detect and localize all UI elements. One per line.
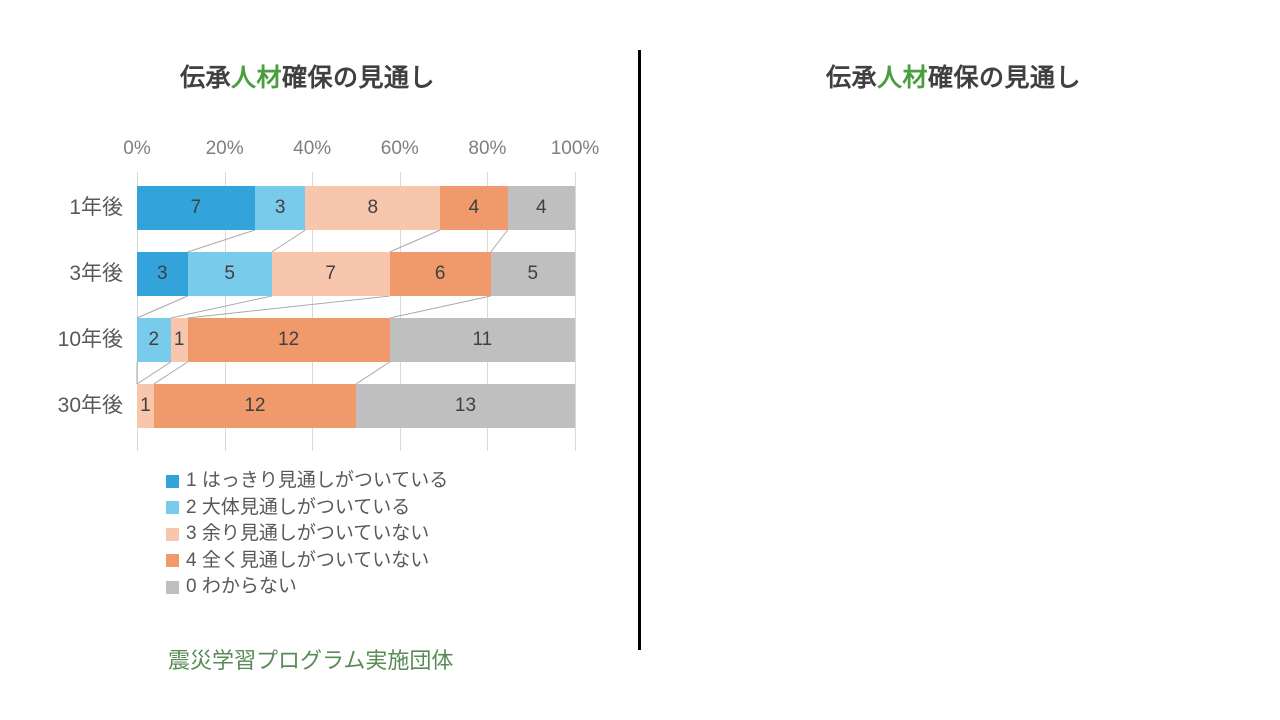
bar-segment-value: 12 (278, 329, 299, 351)
chart-panel-right: 伝承人材確保の見通し 0%20%40%60%80%100% 1年後6131233… (639, 0, 1280, 720)
x-axis-tick-label: 20% (206, 138, 244, 160)
bar-segment-value: 3 (157, 263, 168, 285)
bar-segment: 2 (137, 318, 171, 362)
bar-segment-value: 1 (174, 329, 185, 351)
bar-segment-value: 1 (140, 395, 151, 417)
legend-left: 1 はっきり見通しがついている2 大体見通しがついている3 余り見通しがついてい… (166, 468, 448, 601)
bar-row: 10年後211211 (137, 318, 575, 362)
x-axis-tick-label: 60% (381, 138, 419, 160)
x-axis-tick-label: 100% (551, 138, 600, 160)
legend-item[interactable]: 2 大体見通しがついている (166, 495, 448, 522)
bar-segment: 12 (154, 384, 356, 428)
legend-item[interactable]: 4 全く見通しがついていない (166, 548, 448, 575)
title-suffix-left: 確保の見通し (282, 64, 435, 92)
bar-segment: 7 (272, 252, 390, 296)
bar-segment: 5 (491, 252, 575, 296)
plot-area-left: 0%20%40%60%80%100% 1年後738443年後3576510年後2… (137, 180, 575, 445)
bar-segment-value: 8 (368, 197, 379, 219)
slide-root: 伝承人材確保の見通し 0%20%40%60%80%100% 1年後738443年… (0, 0, 1280, 720)
bar-segment: 4 (440, 186, 507, 230)
x-axis-tick-label: 40% (293, 138, 331, 160)
page-title-right: 伝承人材確保の見通し (633, 58, 1274, 94)
bar-segment-value: 2 (149, 329, 160, 351)
legend-item-label: 0 わからない (186, 574, 297, 601)
bar-segment-value: 6 (435, 263, 446, 285)
x-axis-tick-label: 80% (468, 138, 506, 160)
bar-segment: 7 (137, 186, 255, 230)
legend-swatch-icon (166, 554, 179, 567)
bar-segment: 1 (137, 384, 154, 428)
legend-item-label: 4 全く見通しがついていない (186, 548, 429, 575)
legend-swatch-icon (166, 528, 179, 541)
legend-item-label: 3 余り見通しがついていない (186, 521, 429, 548)
bar-segment-value: 12 (244, 395, 265, 417)
bar-row-label: 1年後 (69, 186, 123, 230)
title-suffix-right: 確保の見通し (928, 64, 1081, 92)
caption-left: 震災学習プログラム実施団体 (168, 643, 453, 675)
bar-row-label: 10年後 (58, 318, 123, 362)
bar-segment: 12 (188, 318, 390, 362)
bar-segment: 4 (508, 186, 575, 230)
bar-segment-value: 7 (325, 263, 336, 285)
title-prefix-right: 伝承 (826, 64, 877, 92)
legend-swatch-icon (166, 475, 179, 488)
bar-segment: 3 (255, 186, 306, 230)
legend-item[interactable]: 0 わからない (166, 574, 448, 601)
title-highlight-right: 人材 (877, 64, 928, 92)
bar-segment-value: 5 (528, 263, 539, 285)
legend-swatch-icon (166, 581, 179, 594)
bar-row: 3年後35765 (137, 252, 575, 296)
bar-segment-value: 4 (469, 197, 480, 219)
bar-segment: 11 (390, 318, 575, 362)
bar-segment: 1 (171, 318, 188, 362)
page-title-left: 伝承人材確保の見通し (0, 58, 627, 94)
bar-segment: 8 (305, 186, 440, 230)
bar-rows-left: 1年後738443年後3576510年後21121130年後11213 (137, 180, 575, 445)
legend-item-label: 2 大体見通しがついている (186, 495, 410, 522)
bar-segment-value: 7 (191, 197, 202, 219)
bar-segment-value: 4 (536, 197, 547, 219)
gridline (575, 172, 576, 451)
panel-divider (638, 50, 641, 650)
bar-segment-value: 3 (275, 197, 286, 219)
bar-segment: 3 (137, 252, 188, 296)
bar-segment-value: 11 (472, 329, 492, 351)
bar-row-label: 3年後 (69, 252, 123, 296)
x-axis-tick-label: 0% (123, 138, 150, 160)
bar-row: 30年後11213 (137, 384, 575, 428)
bar-segment-value: 5 (224, 263, 235, 285)
title-prefix-left: 伝承 (180, 64, 231, 92)
title-highlight-left: 人材 (231, 64, 282, 92)
x-axis-labels-left: 0%20%40%60%80%100% (137, 138, 575, 164)
legend-item[interactable]: 3 余り見通しがついていない (166, 521, 448, 548)
bar-segment-value: 13 (455, 395, 476, 417)
legend-item-label: 1 はっきり見通しがついている (186, 468, 448, 495)
bar-row: 1年後73844 (137, 186, 575, 230)
legend-item[interactable]: 1 はっきり見通しがついている (166, 468, 448, 495)
bar-row-label: 30年後 (58, 384, 123, 428)
bar-segment: 6 (390, 252, 491, 296)
bar-segment: 5 (188, 252, 272, 296)
legend-swatch-icon (166, 501, 179, 514)
bar-segment: 13 (356, 384, 575, 428)
chart-panel-left: 伝承人材確保の見通し 0%20%40%60%80%100% 1年後738443年… (0, 0, 639, 720)
